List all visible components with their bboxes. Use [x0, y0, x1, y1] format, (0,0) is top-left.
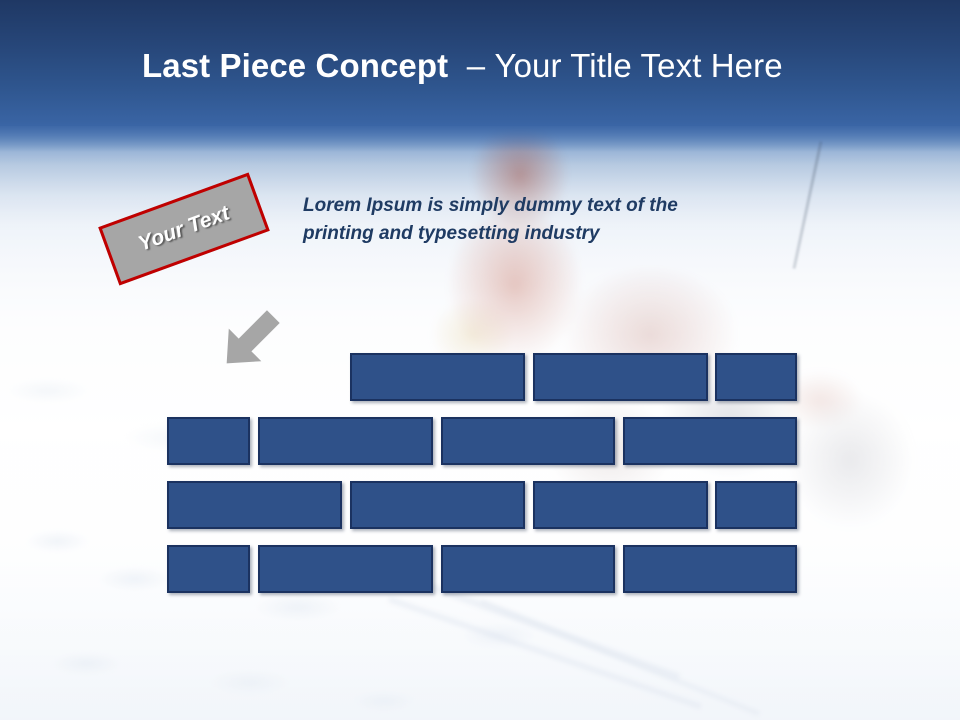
brick-r4-c2[interactable]	[258, 545, 433, 593]
brick-r1-c3[interactable]	[715, 353, 797, 401]
brick-r3-c2[interactable]	[350, 481, 525, 529]
slide: Last Piece Concept – Your Title Text Her…	[0, 0, 960, 720]
brick-r3-c4[interactable]	[715, 481, 797, 529]
brick-r1-c1[interactable]	[350, 353, 525, 401]
brick-r3-c1[interactable]	[167, 481, 342, 529]
brick-r1-c2[interactable]	[533, 353, 708, 401]
brick-r2-c1[interactable]	[167, 417, 250, 465]
brick-r2-c3[interactable]	[441, 417, 615, 465]
brick-r2-c4[interactable]	[623, 417, 797, 465]
brick-wall	[0, 0, 960, 720]
brick-r4-c1[interactable]	[167, 545, 250, 593]
brick-r4-c3[interactable]	[441, 545, 615, 593]
brick-r4-c4[interactable]	[623, 545, 797, 593]
brick-r2-c2[interactable]	[258, 417, 433, 465]
brick-r3-c3[interactable]	[533, 481, 708, 529]
